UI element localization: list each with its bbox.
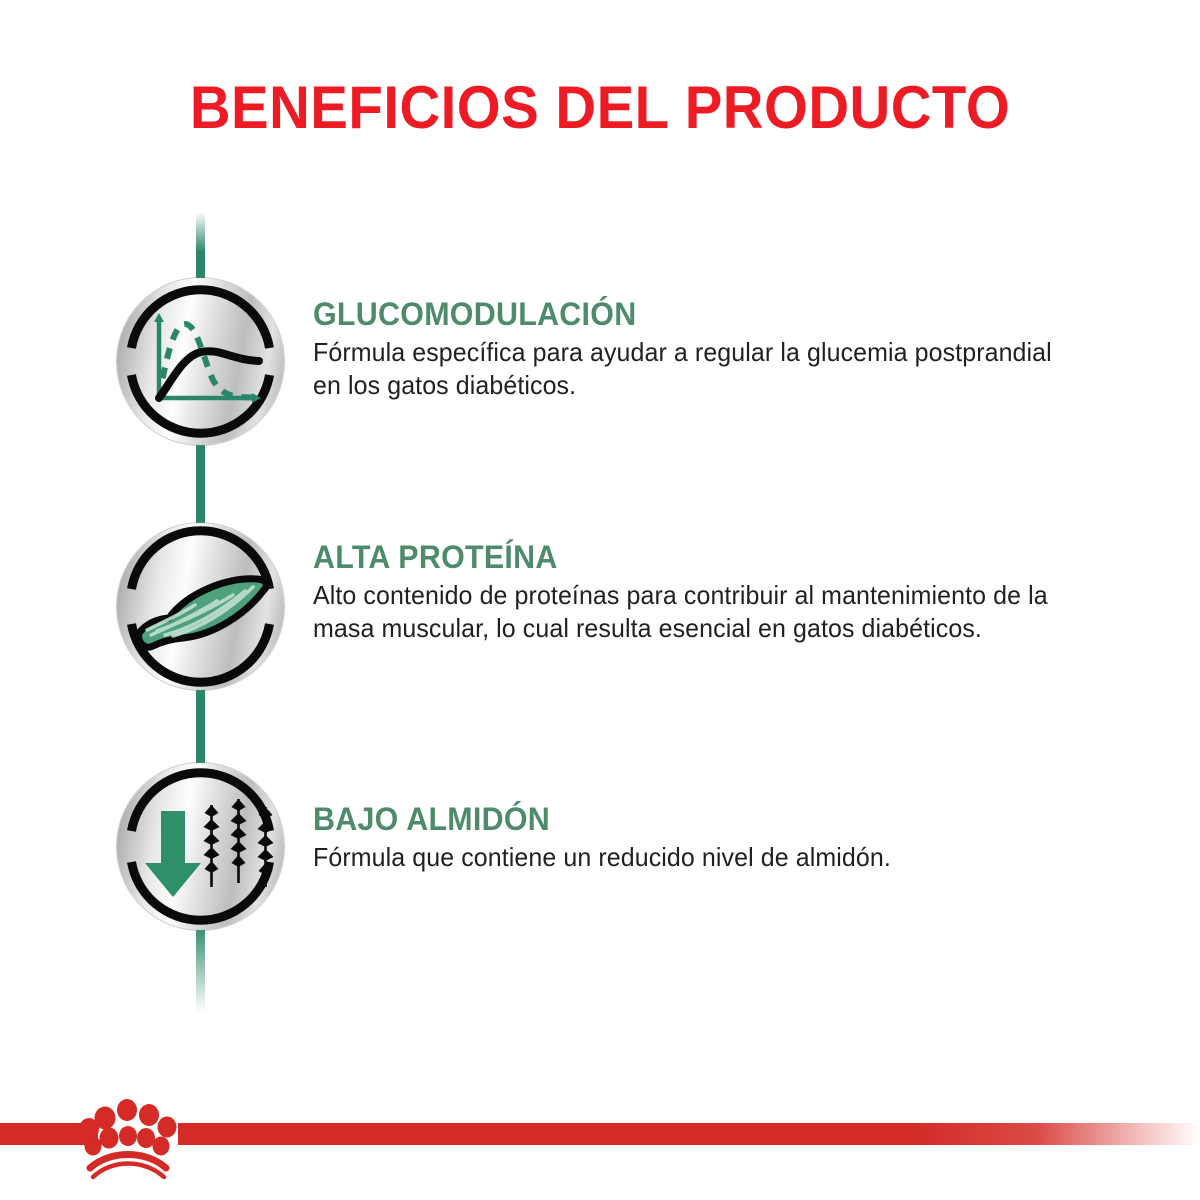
benefit-item-alta-proteina: ALTA PROTEÍNA Alto contenido de proteína… (0, 523, 1200, 693)
benefit-description: Fórmula específica para ayudar a regular… (313, 336, 1071, 402)
benefit-title: BAJO ALMIDÓN (313, 801, 1064, 837)
benefit-text-block: ALTA PROTEÍNA Alto contenido de proteína… (313, 539, 1113, 645)
muscle-fiber-icon (117, 523, 284, 690)
footer-bar-right (178, 1123, 1200, 1145)
page-title: BENEFICIOS DEL PRODUCTO (36, 76, 1164, 140)
benefit-description: Fórmula que contiene un reducido nivel d… (313, 841, 1071, 874)
benefit-item-glucomodulacion: GLUCOMODULACIÓN Fórmula específica para … (0, 278, 1200, 448)
benefit-title: GLUCOMODULACIÓN (313, 296, 1064, 332)
benefit-title: ALTA PROTEÍNA (313, 539, 1073, 575)
benefit-text-block: BAJO ALMIDÓN Fórmula que contiene un red… (313, 801, 1103, 874)
benefit-description: Alto contenido de proteínas para contrib… (313, 579, 1081, 645)
down-arrow-wheat-icon (117, 763, 284, 930)
royal-canin-crown-logo (76, 1096, 188, 1188)
benefit-text-block: GLUCOMODULACIÓN Fórmula específica para … (313, 296, 1103, 402)
glucose-curve-icon (117, 278, 284, 445)
benefit-item-bajo-almidon: BAJO ALMIDÓN Fórmula que contiene un red… (0, 763, 1200, 933)
